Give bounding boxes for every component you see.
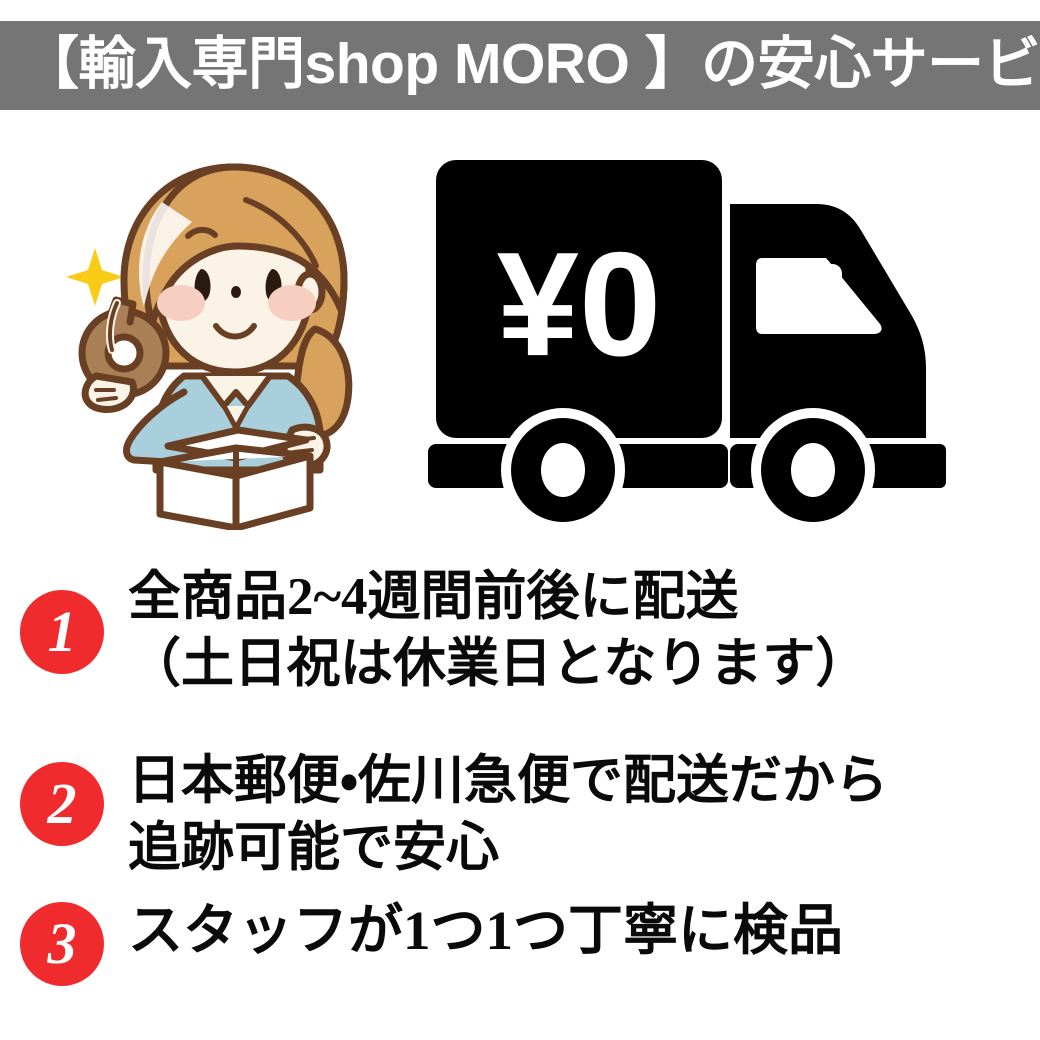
feature-badge-1: 1 <box>20 590 104 674</box>
feature-badge-3: 3 <box>20 902 104 986</box>
feature-text-2: 日本郵便・佐川急便で配送だから 追跡可能で安心 <box>128 748 1040 882</box>
truck-cargo-label: ¥0 <box>497 222 662 387</box>
delivery-truck-icon: ¥0 <box>418 148 1028 528</box>
cardboard-box-icon <box>160 430 310 528</box>
promo-banner-page: 【輸入専門shop MORO 】の安心サービス <box>0 0 1040 1040</box>
feature-list: 1 全商品2~4週間前後に配送 （土日祝は休業日となります） 2 日本郵便・佐川… <box>0 548 1040 1040</box>
illustration-band: ¥0 <box>0 130 1040 540</box>
feature-text-1: 全商品2~4週間前後に配送 （土日祝は休業日となります） <box>128 564 1040 698</box>
feature-item-1: 1 全商品2~4週間前後に配送 （土日祝は休業日となります） <box>0 564 1040 698</box>
woman-packing-box-illustration <box>38 140 428 530</box>
page-title: 【輸入専門shop MORO 】の安心サービス <box>0 36 1040 93</box>
feature-badge-2: 2 <box>20 762 104 846</box>
feature-item-2: 2 日本郵便・佐川急便で配送だから 追跡可能で安心 <box>0 748 1040 882</box>
feature-text-3: スタッフが1つ1つ丁寧に検品 <box>128 896 1040 965</box>
header-banner: 【輸入専門shop MORO 】の安心サービス <box>0 21 1040 110</box>
feature-item-3: 3 スタッフが1つ1つ丁寧に検品 <box>0 896 1040 986</box>
